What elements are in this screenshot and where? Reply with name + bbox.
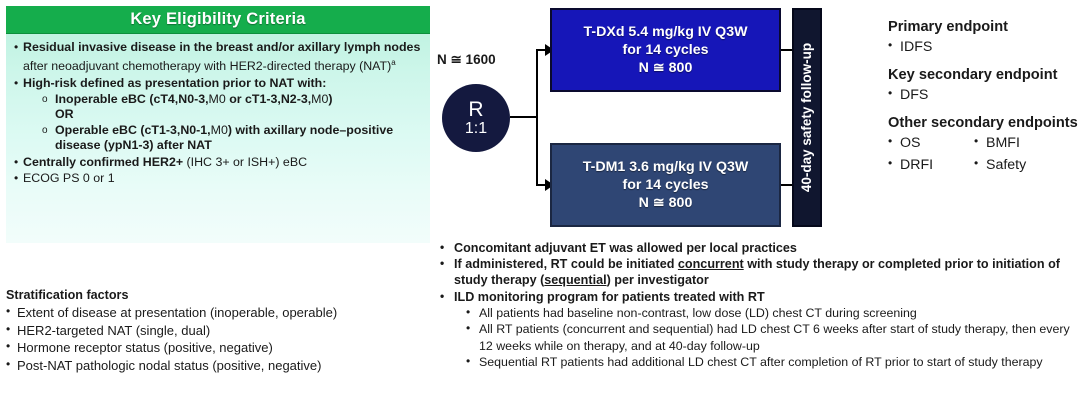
stratification-item: •Hormone receptor status (positive, nega… [6, 339, 426, 357]
bullet-marker: • [6, 304, 17, 322]
study-note-item: •ILD monitoring program for patients tre… [440, 289, 1072, 305]
treatment-arm-tdm1: T-DM1 3.6 mg/kg IV Q3W for 14 cycles N ≅… [550, 143, 781, 227]
arm-tdm1-line1: T-DM1 3.6 mg/kg IV Q3W [583, 158, 749, 176]
bullet-marker: • [14, 155, 23, 170]
arm-tdxd-line3: N ≅ 800 [639, 59, 693, 77]
study-note-item: •Concomitant adjuvant ET was allowed per… [440, 240, 1072, 256]
list-item-text: Hormone receptor status (positive, negat… [17, 339, 426, 357]
arm-tdxd-line2: for 14 cycles [623, 41, 709, 59]
list-item-text: HER2-targeted NAT (single, dual) [17, 322, 426, 340]
primary-endpoint-list: •IDFS [888, 38, 1078, 57]
safety-followup-label: 40-day safety follow-up [800, 43, 815, 192]
bullet-marker: • [466, 321, 479, 354]
key-secondary-endpoint-item: •DFS [888, 86, 1078, 105]
key-secondary-endpoint-list: •DFS [888, 86, 1078, 105]
other-endpoint-item: •OS [888, 134, 974, 153]
eligibility-panel: Key Eligibility Criteria •Residual invas… [6, 6, 430, 243]
list-item-text: DFS [900, 86, 1078, 105]
other-endpoints-columns: •OS•DRFI •BMFI•Safety [888, 133, 1078, 178]
bullet-marker: • [974, 134, 986, 153]
list-item-text: All RT patients (concurrent and sequenti… [479, 321, 1072, 354]
study-note-item: •All patients had baseline non-contrast,… [440, 305, 1072, 321]
other-endpoints-col-2: •BMFI•Safety [974, 133, 1060, 178]
treatment-arm-tdxd: T-DXd 5.4 mg/kg IV Q3W for 14 cycles N ≅… [550, 8, 781, 92]
study-note-item: •Sequential RT patients had additional L… [440, 354, 1072, 370]
bullet-marker: • [466, 305, 479, 321]
stratification-item: •HER2-targeted NAT (single, dual) [6, 322, 426, 340]
list-item-text: Residual invasive disease in the breast … [23, 40, 422, 75]
arm-tdm1-line3: N ≅ 800 [639, 194, 693, 212]
primary-endpoint-title: Primary endpoint [888, 18, 1078, 37]
list-item-text: All patients had baseline non-contrast, … [479, 305, 1072, 321]
bullet-marker: • [466, 354, 479, 370]
randomization-node: R 1:1 [442, 84, 510, 152]
other-endpoint-item: •DRFI [888, 156, 974, 175]
eligibility-header: Key Eligibility Criteria [6, 6, 430, 34]
eligibility-item: •ECOG PS 0 or 1 [14, 171, 422, 186]
bullet-marker: • [888, 38, 900, 57]
list-item-text: High-risk defined as presentation prior … [23, 76, 422, 91]
other-endpoint-item: •Safety [974, 156, 1060, 175]
stratification-section: Stratification factors •Extent of diseas… [6, 288, 426, 374]
stratification-item: •Extent of disease at presentation (inop… [6, 304, 426, 322]
arm-tdm1-line2: for 14 cycles [623, 176, 709, 194]
stratification-list: •Extent of disease at presentation (inop… [6, 304, 426, 374]
bullet-marker: • [14, 40, 23, 75]
arm-tdxd-line1: T-DXd 5.4 mg/kg IV Q3W [584, 23, 748, 41]
list-item-text: ILD monitoring program for patients trea… [454, 289, 1072, 305]
eligibility-item: •Residual invasive disease in the breast… [14, 40, 422, 75]
bullet-marker: • [440, 256, 454, 288]
list-item-text: DRFI [900, 156, 974, 175]
other-endpoints-title: Other secondary endpoints [888, 114, 1078, 133]
bullet-marker: o [42, 92, 55, 122]
list-item-text: IDFS [900, 38, 1078, 57]
list-item-text: Post-NAT pathologic nodal status (positi… [17, 357, 426, 375]
bullet-marker: o [42, 123, 55, 153]
bullet-marker: • [6, 339, 17, 357]
list-item-text: Inoperable eBC (cT4,N0-3,M0 or cT1-3,N2-… [55, 92, 422, 122]
study-note-item: •All RT patients (concurrent and sequent… [440, 321, 1072, 354]
other-endpoint-item: •BMFI [974, 134, 1060, 153]
eligibility-title: Key Eligibility Criteria [130, 10, 305, 29]
eligibility-item: oInoperable eBC (cT4,N0-3,M0 or cT1-3,N2… [14, 92, 422, 122]
safety-followup-bar: 40-day safety follow-up [792, 8, 822, 227]
total-n-label: N ≅ 1600 [437, 52, 496, 68]
eligibility-item: •Centrally confirmed HER2+ (IHC 3+ or IS… [14, 155, 422, 170]
eligibility-item: •High-risk defined as presentation prior… [14, 76, 422, 91]
randomization-letter: R [468, 99, 483, 120]
list-item-text: Safety [986, 156, 1060, 175]
stratification-title: Stratification factors [6, 288, 426, 302]
trial-flow-diagram: N ≅ 1600 R 1:1 T-DXd 5.4 mg/kg IV Q3W fo… [432, 0, 842, 235]
list-item-text: Operable eBC (cT1-3,N0-1,M0) with axilla… [55, 123, 422, 153]
list-item-text: OS [900, 134, 974, 153]
bullet-marker: • [440, 240, 454, 256]
endpoints-section: Primary endpoint •IDFS Key secondary end… [888, 18, 1078, 178]
connector-stem [510, 116, 538, 118]
bullet-marker: • [440, 289, 454, 305]
slide-canvas: Key Eligibility Criteria •Residual invas… [0, 0, 1080, 404]
primary-endpoint-item: •IDFS [888, 38, 1078, 57]
list-item-text: BMFI [986, 134, 1060, 153]
bullet-marker: • [888, 134, 900, 153]
randomization-ratio: 1:1 [465, 121, 487, 137]
list-item-text: Extent of disease at presentation (inope… [17, 304, 426, 322]
bullet-marker: • [888, 156, 900, 175]
key-secondary-endpoint-title: Key secondary endpoint [888, 66, 1078, 85]
bullet-marker: • [14, 171, 23, 186]
bullet-marker: • [6, 322, 17, 340]
list-item-text: If administered, RT could be initiated c… [454, 256, 1072, 288]
eligibility-list: •Residual invasive disease in the breast… [6, 34, 430, 186]
stratification-item: •Post-NAT pathologic nodal status (posit… [6, 357, 426, 375]
bullet-marker: • [888, 86, 900, 105]
bullet-marker: • [6, 357, 17, 375]
study-note-item: •If administered, RT could be initiated … [440, 256, 1072, 288]
study-notes-list: •Concomitant adjuvant ET was allowed per… [440, 240, 1072, 370]
bullet-marker: • [974, 156, 986, 175]
list-item-text: Concomitant adjuvant ET was allowed per … [454, 240, 1072, 256]
list-item-text: Centrally confirmed HER2+ (IHC 3+ or ISH… [23, 155, 422, 170]
eligibility-item: oOperable eBC (cT1-3,N0-1,M0) with axill… [14, 123, 422, 153]
list-item-text: ECOG PS 0 or 1 [23, 171, 422, 186]
list-item-text: Sequential RT patients had additional LD… [479, 354, 1072, 370]
bullet-marker: • [14, 76, 23, 91]
other-endpoints-col-1: •OS•DRFI [888, 133, 974, 178]
connector-vertical [536, 50, 538, 186]
